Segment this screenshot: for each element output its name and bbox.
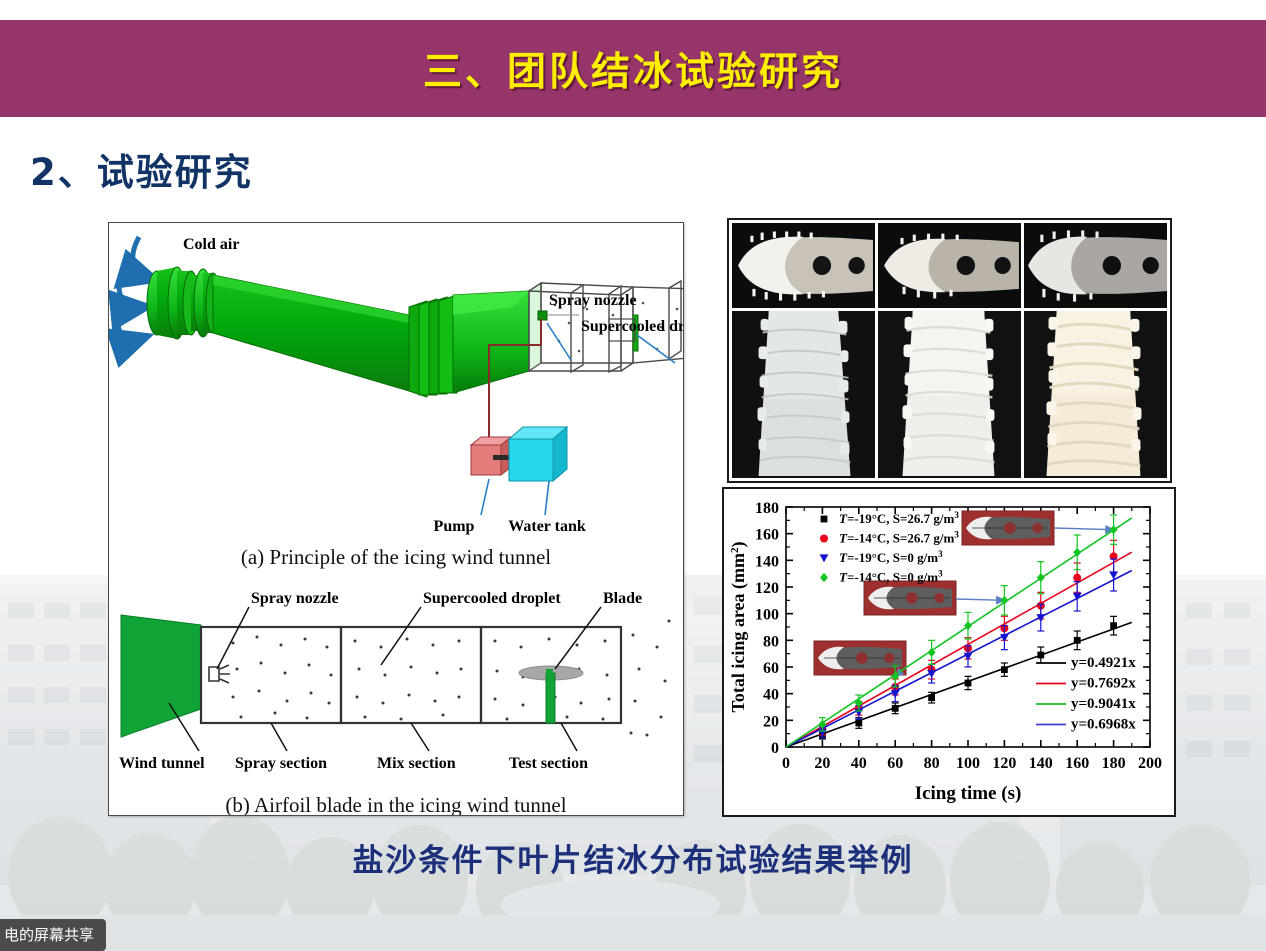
airfoil-blade-wind-tunnel-diagram: Spray nozzle Supercooled droplet Blade W… [109, 585, 683, 775]
inset-airfoil-mid [864, 581, 956, 615]
svg-text:y=0.7692x: y=0.7692x [1071, 676, 1136, 692]
label-supercooled-droplet-a: Supercooled droplet [581, 318, 683, 335]
svg-text:60: 60 [763, 660, 779, 677]
legend-entry-3: T=-14°C, S=0 g/m3 [820, 569, 943, 585]
inset-airfoil-high [962, 511, 1054, 545]
svg-text:160: 160 [1065, 755, 1089, 772]
svg-text:y=0.9041x: y=0.9041x [1071, 696, 1136, 712]
svg-text:160: 160 [755, 527, 779, 544]
label-spray-section: Spray section [235, 755, 327, 772]
figure-b-caption: (b) Airfoil blade in the icing wind tunn… [109, 793, 683, 816]
page-title: 三、团队结冰试验研究 [0, 20, 1266, 117]
svg-text:120: 120 [755, 580, 779, 597]
screen-share-badge[interactable]: 电的屏幕共享 [0, 919, 106, 951]
photo-cell-airfoil-tip-ice-2 [878, 223, 1021, 308]
svg-text:20: 20 [763, 713, 779, 730]
label-mix-section: Mix section [377, 755, 456, 772]
icing-wind-tunnel-principle-diagram: Cold air Spray nozzle Supercooled drople… [109, 223, 683, 573]
svg-text:Icing time (s): Icing time (s) [915, 783, 1022, 804]
svg-text:80: 80 [763, 633, 779, 650]
icing-area-vs-time-chart: 0204060801001201401601802000204060801001… [722, 487, 1176, 817]
svg-text:180: 180 [1102, 755, 1126, 772]
chart-canvas: 0204060801001201401601802000204060801001… [724, 489, 1170, 811]
svg-text:180: 180 [755, 500, 779, 517]
label-pump: Pump [434, 518, 475, 535]
svg-text:100: 100 [956, 755, 980, 772]
svg-text:Total icing area (mm2): Total icing area (mm2) [728, 542, 749, 713]
legend-entry-0: T=-19°C, S=26.7 g/m3 [821, 510, 960, 526]
photo-cell-blade-ice-column-1 [732, 311, 875, 478]
svg-text:40: 40 [851, 755, 867, 772]
svg-text:0: 0 [782, 755, 790, 772]
svg-text:T=-19°C, S=0 g/m3: T=-19°C, S=0 g/m3 [839, 549, 943, 565]
photo-cell-blade-ice-column-2 [878, 311, 1021, 478]
wind-tunnel-figure-panel: Cold air Spray nozzle Supercooled drople… [108, 222, 684, 816]
svg-text:120: 120 [992, 755, 1016, 772]
svg-text:80: 80 [924, 755, 940, 772]
slide-header-band: 三、团队结冰试验研究 [0, 20, 1266, 117]
label-spray-nozzle-a: Spray nozzle [549, 292, 637, 309]
label-blade: Blade [603, 590, 642, 607]
label-test-section: Test section [509, 755, 588, 772]
section-subtitle: 2、试验研究 [30, 142, 253, 196]
svg-text:140: 140 [1029, 755, 1053, 772]
svg-text:100: 100 [755, 607, 779, 624]
top-white-strip [0, 0, 1266, 20]
svg-text:y=0.4921x: y=0.4921x [1071, 655, 1136, 671]
photo-cell-airfoil-tip-ice-3 [1024, 223, 1167, 308]
svg-text:60: 60 [887, 755, 903, 772]
svg-text:y=0.6968x: y=0.6968x [1071, 717, 1136, 733]
svg-text:T=-19°C, S=26.7 g/m3: T=-19°C, S=26.7 g/m3 [839, 510, 959, 526]
figure-a-caption: (a) Principle of the icing wind tunnel [109, 545, 683, 570]
legend-entry-1: T=-14°C, S=26.7 g/m3 [820, 530, 959, 546]
svg-text:T=-14°C, S=0 g/m3: T=-14°C, S=0 g/m3 [839, 569, 943, 585]
svg-text:20: 20 [814, 755, 830, 772]
label-water-tank: Water tank [508, 518, 586, 535]
icing-photo-grid [727, 218, 1172, 483]
photo-cell-airfoil-tip-ice-1 [732, 223, 875, 308]
label-spray-nozzle-b: Spray nozzle [251, 590, 339, 607]
svg-text:0: 0 [771, 740, 779, 757]
photo-cell-blade-ice-column-3 [1024, 311, 1167, 478]
svg-text:40: 40 [763, 687, 779, 704]
svg-text:T=-14°C, S=26.7 g/m3: T=-14°C, S=26.7 g/m3 [839, 530, 959, 546]
label-supercooled-droplet-b: Supercooled droplet [423, 590, 561, 607]
label-cold-air: Cold air [183, 236, 239, 253]
svg-text:140: 140 [755, 553, 779, 570]
label-wind-tunnel: Wind tunnel [119, 755, 205, 772]
svg-text:200: 200 [1138, 755, 1162, 772]
slide-bottom-caption: 盐沙条件下叶片结冰分布试验结果举例 [0, 835, 1266, 880]
legend-entry-2: T=-19°C, S=0 g/m3 [820, 549, 944, 565]
inset-airfoil-low [814, 641, 906, 675]
